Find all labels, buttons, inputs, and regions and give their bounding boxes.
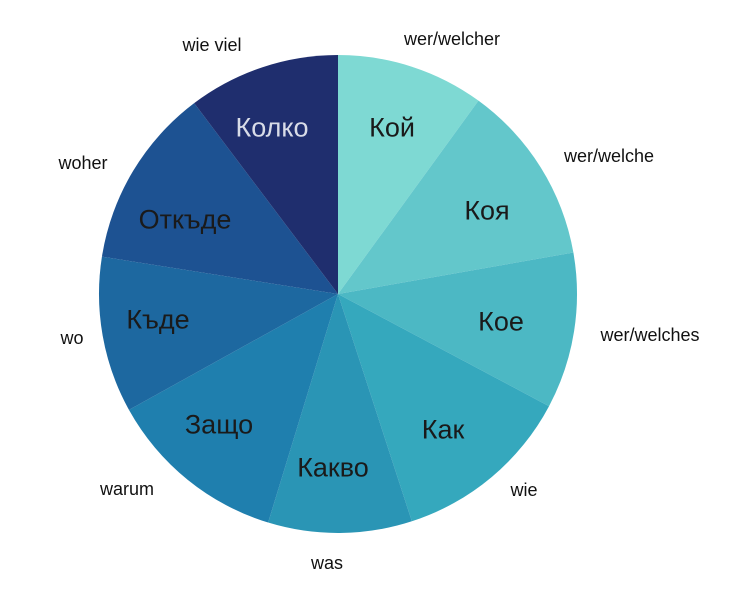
pie-outer-label: wer/welche [564, 147, 654, 165]
pie-outer-label: wer/welches [600, 326, 699, 344]
pie-outer-label: wo [60, 329, 83, 347]
pie-chart-figure: Койwer/welcherКояwer/welcheКоеwer/welche… [0, 0, 740, 603]
pie-outer-label: was [311, 554, 343, 572]
pie-outer-label: woher [58, 154, 107, 172]
pie-outer-label: warum [100, 480, 154, 498]
pie-outer-label: wer/welcher [404, 30, 500, 48]
pie-slices-group [99, 55, 577, 533]
pie-chart-canvas [0, 0, 740, 603]
pie-outer-label: wie [510, 481, 537, 499]
pie-outer-label: wie viel [182, 36, 241, 54]
